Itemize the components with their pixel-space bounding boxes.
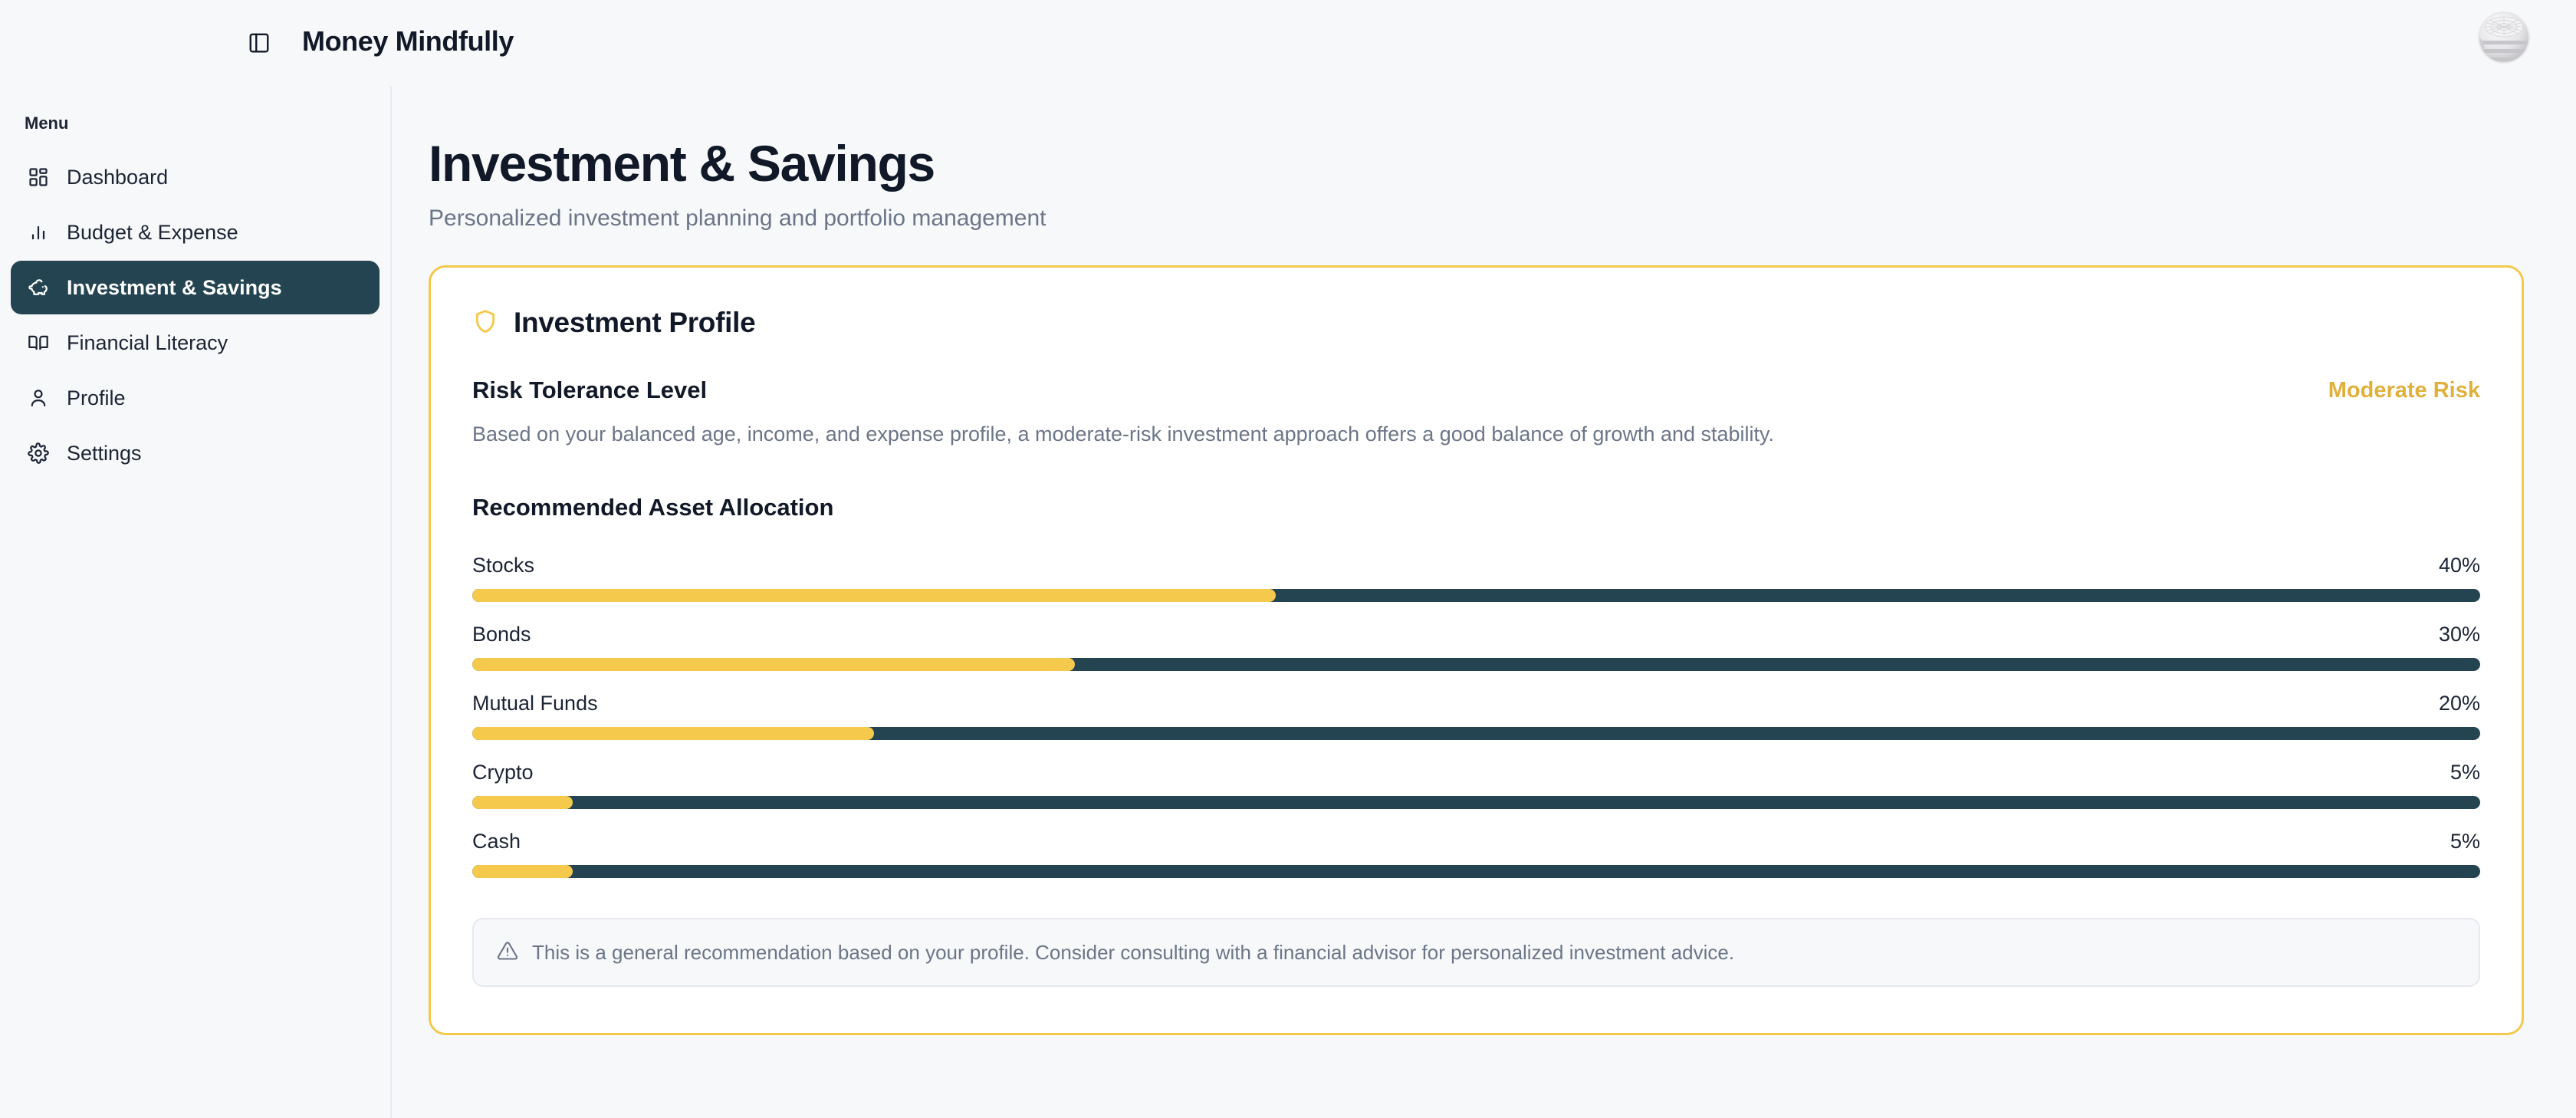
open-book-icon bbox=[25, 330, 51, 356]
allocation-row-header: Crypto5% bbox=[472, 759, 2480, 785]
risk-description: Based on your balanced age, income, and … bbox=[472, 419, 2480, 449]
sidebar-section-label: Menu bbox=[0, 112, 390, 135]
allocation-row: Crypto5% bbox=[472, 759, 2480, 809]
allocation-row: Mutual Funds20% bbox=[472, 690, 2480, 740]
allocation-asset-name: Cash bbox=[472, 828, 521, 854]
main-content: Investment & Savings Personalized invest… bbox=[393, 86, 2576, 1118]
shield-icon bbox=[472, 308, 498, 338]
sidebar-item-label: Dashboard bbox=[67, 163, 168, 191]
sidebar-item-financial-literacy[interactable]: Financial Literacy bbox=[11, 316, 379, 370]
avatar[interactable] bbox=[2478, 12, 2530, 64]
person-icon bbox=[25, 385, 51, 411]
allocation-percent-value: 5% bbox=[2450, 828, 2480, 854]
allocation-row-header: Mutual Funds20% bbox=[472, 690, 2480, 716]
warning-triangle-icon bbox=[497, 940, 518, 965]
allocation-bar-fill bbox=[472, 727, 874, 740]
allocation-bar-track bbox=[472, 865, 2480, 878]
sidebar-item-label: Settings bbox=[67, 439, 142, 467]
asset-allocation-list: Stocks40%Bonds30%Mutual Funds20%Crypto5%… bbox=[472, 552, 2480, 878]
allocation-bar-fill bbox=[472, 658, 1075, 671]
card-title: Investment Profile bbox=[514, 304, 755, 341]
risk-tolerance-row: Risk Tolerance Level Moderate Risk bbox=[472, 375, 2480, 406]
allocation-bar-fill bbox=[472, 865, 573, 878]
disclaimer-text: This is a general recommendation based o… bbox=[532, 939, 1734, 965]
allocation-asset-name: Bonds bbox=[472, 621, 531, 647]
sidebar: Menu Dashboard Budget & Expense bbox=[0, 86, 392, 1118]
allocation-percent-value: 40% bbox=[2439, 552, 2480, 578]
gear-icon bbox=[25, 440, 51, 466]
allocation-asset-name: Stocks bbox=[472, 552, 534, 578]
sidebar-item-profile[interactable]: Profile bbox=[11, 371, 379, 425]
allocation-percent-value: 20% bbox=[2439, 690, 2480, 716]
sidebar-item-label: Investment & Savings bbox=[67, 274, 282, 301]
allocation-bar-track bbox=[472, 796, 2480, 809]
allocation-percent-value: 30% bbox=[2439, 621, 2480, 647]
disclaimer-note: This is a general recommendation based o… bbox=[472, 918, 2480, 987]
sidebar-item-label: Financial Literacy bbox=[67, 329, 228, 357]
allocation-bar-track bbox=[472, 658, 2480, 671]
sidebar-item-investment-savings[interactable]: Investment & Savings bbox=[11, 261, 379, 314]
allocation-bar-track bbox=[472, 727, 2480, 740]
sidebar-item-label: Profile bbox=[67, 384, 126, 412]
top-bar: Money Mindfully bbox=[0, 0, 2576, 86]
allocation-row-header: Stocks40% bbox=[472, 552, 2480, 578]
allocation-row: Cash5% bbox=[472, 828, 2480, 878]
bar-chart-icon bbox=[25, 219, 51, 245]
allocation-heading: Recommended Asset Allocation bbox=[472, 492, 2480, 523]
allocation-bar-track bbox=[472, 589, 2480, 602]
investment-profile-card: Investment Profile Risk Tolerance Level … bbox=[429, 265, 2524, 1035]
risk-tolerance-heading: Risk Tolerance Level bbox=[472, 375, 707, 406]
card-header: Investment Profile bbox=[472, 304, 2480, 341]
allocation-row: Stocks40% bbox=[472, 552, 2480, 602]
allocation-asset-name: Crypto bbox=[472, 759, 534, 785]
sidebar-item-budget-expense[interactable]: Budget & Expense bbox=[11, 206, 379, 259]
sidebar-item-settings[interactable]: Settings bbox=[11, 426, 379, 480]
sidebar-toggle-icon[interactable] bbox=[244, 28, 274, 58]
allocation-bar-fill bbox=[472, 589, 1276, 602]
allocation-row-header: Cash5% bbox=[472, 828, 2480, 854]
sidebar-item-label: Budget & Expense bbox=[67, 219, 238, 246]
page-subtitle: Personalized investment planning and por… bbox=[429, 203, 2530, 234]
allocation-bar-fill bbox=[472, 796, 573, 809]
allocation-row: Bonds30% bbox=[472, 621, 2480, 671]
piggy-bank-icon bbox=[25, 275, 51, 301]
risk-level-badge[interactable]: Moderate Risk bbox=[2328, 375, 2480, 406]
page-title: Investment & Savings bbox=[429, 133, 2530, 194]
allocation-percent-value: 5% bbox=[2450, 759, 2480, 785]
allocation-asset-name: Mutual Funds bbox=[472, 690, 598, 716]
app-title: Money Mindfully bbox=[302, 22, 514, 61]
grid-dashboard-icon bbox=[25, 164, 51, 190]
sidebar-item-dashboard[interactable]: Dashboard bbox=[11, 150, 379, 204]
allocation-row-header: Bonds30% bbox=[472, 621, 2480, 647]
